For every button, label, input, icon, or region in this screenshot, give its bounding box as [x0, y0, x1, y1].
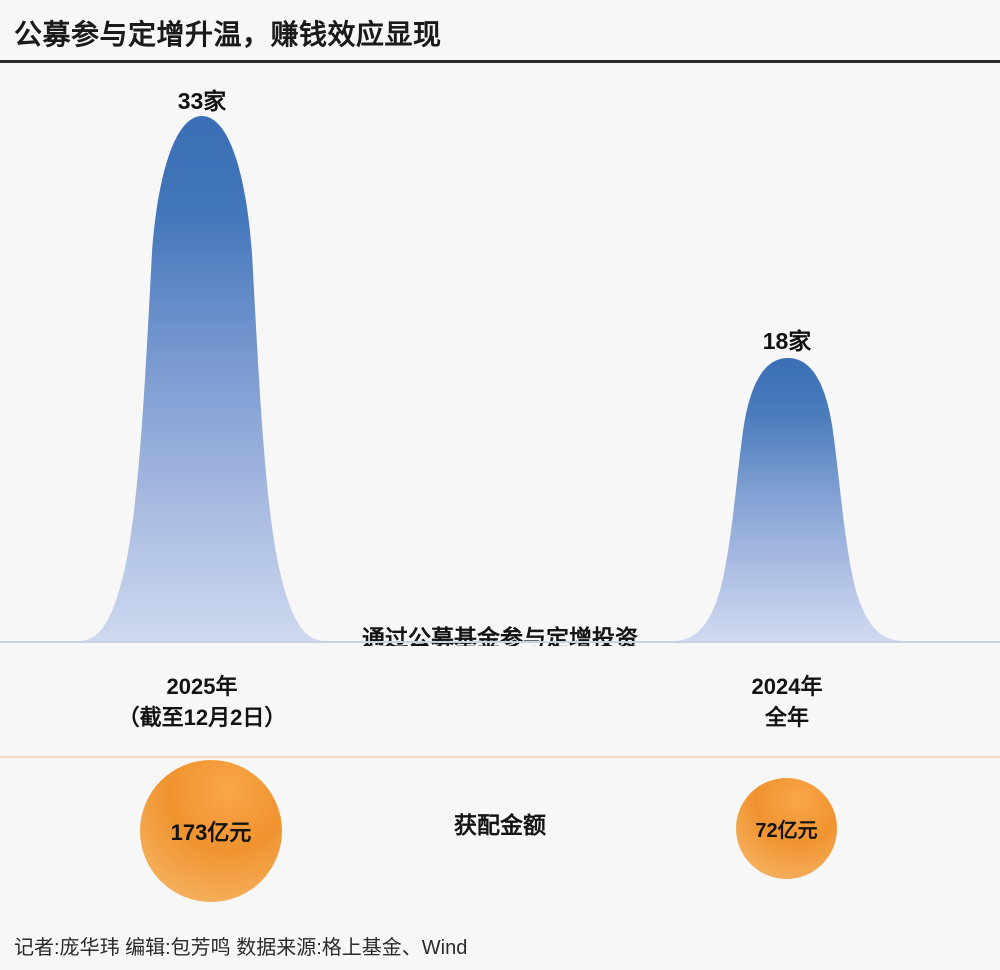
- year-label-2025-line1: 2025年: [92, 672, 312, 703]
- bubbles-caption: 获配金额: [380, 806, 620, 840]
- year-label-2024: 2024年 全年: [687, 672, 887, 734]
- bar-value-2024: 18家: [737, 322, 837, 356]
- bar-shape-2024: [672, 358, 904, 641]
- bubbles-band: 173亿元 72亿元 获配金额: [0, 758, 1000, 910]
- years-band: 2025年 （截至12月2日） 2024年 全年: [0, 646, 1000, 757]
- year-label-2024-line1: 2024年: [687, 672, 887, 703]
- bell-curve-chart: [0, 63, 1000, 646]
- year-label-2025: 2025年 （截至12月2日）: [92, 672, 312, 734]
- bar-value-2025: 33家: [152, 82, 252, 116]
- bubble-amount-2025: 173亿元: [140, 760, 282, 902]
- bubble-amount-2025-label: 173亿元: [171, 815, 252, 847]
- chart-baseline: [0, 641, 1000, 643]
- year-label-2024-line2: 全年: [687, 703, 887, 734]
- year-label-2025-line2: （截至12月2日）: [92, 703, 312, 734]
- footer-credits: 记者:庞华玮 编辑:包芳鸣 数据来源:格上基金、Wind: [14, 931, 467, 960]
- page-title: 公募参与定增升温，赚钱效应显现: [14, 13, 442, 53]
- header: 公募参与定增升温，赚钱效应显现: [0, 0, 1000, 62]
- bubble-amount-2024: 72亿元: [736, 778, 837, 879]
- chart-area: 通过公募基金参与定增投资 的公募基金公司数: [0, 63, 1000, 646]
- bubble-amount-2024-label: 72亿元: [755, 814, 817, 843]
- footer: 记者:庞华玮 编辑:包芳鸣 数据来源:格上基金、Wind: [0, 910, 1000, 970]
- bar-shape-2025: [78, 116, 326, 641]
- infographic-page: 公募参与定增升温，赚钱效应显现: [0, 0, 1000, 970]
